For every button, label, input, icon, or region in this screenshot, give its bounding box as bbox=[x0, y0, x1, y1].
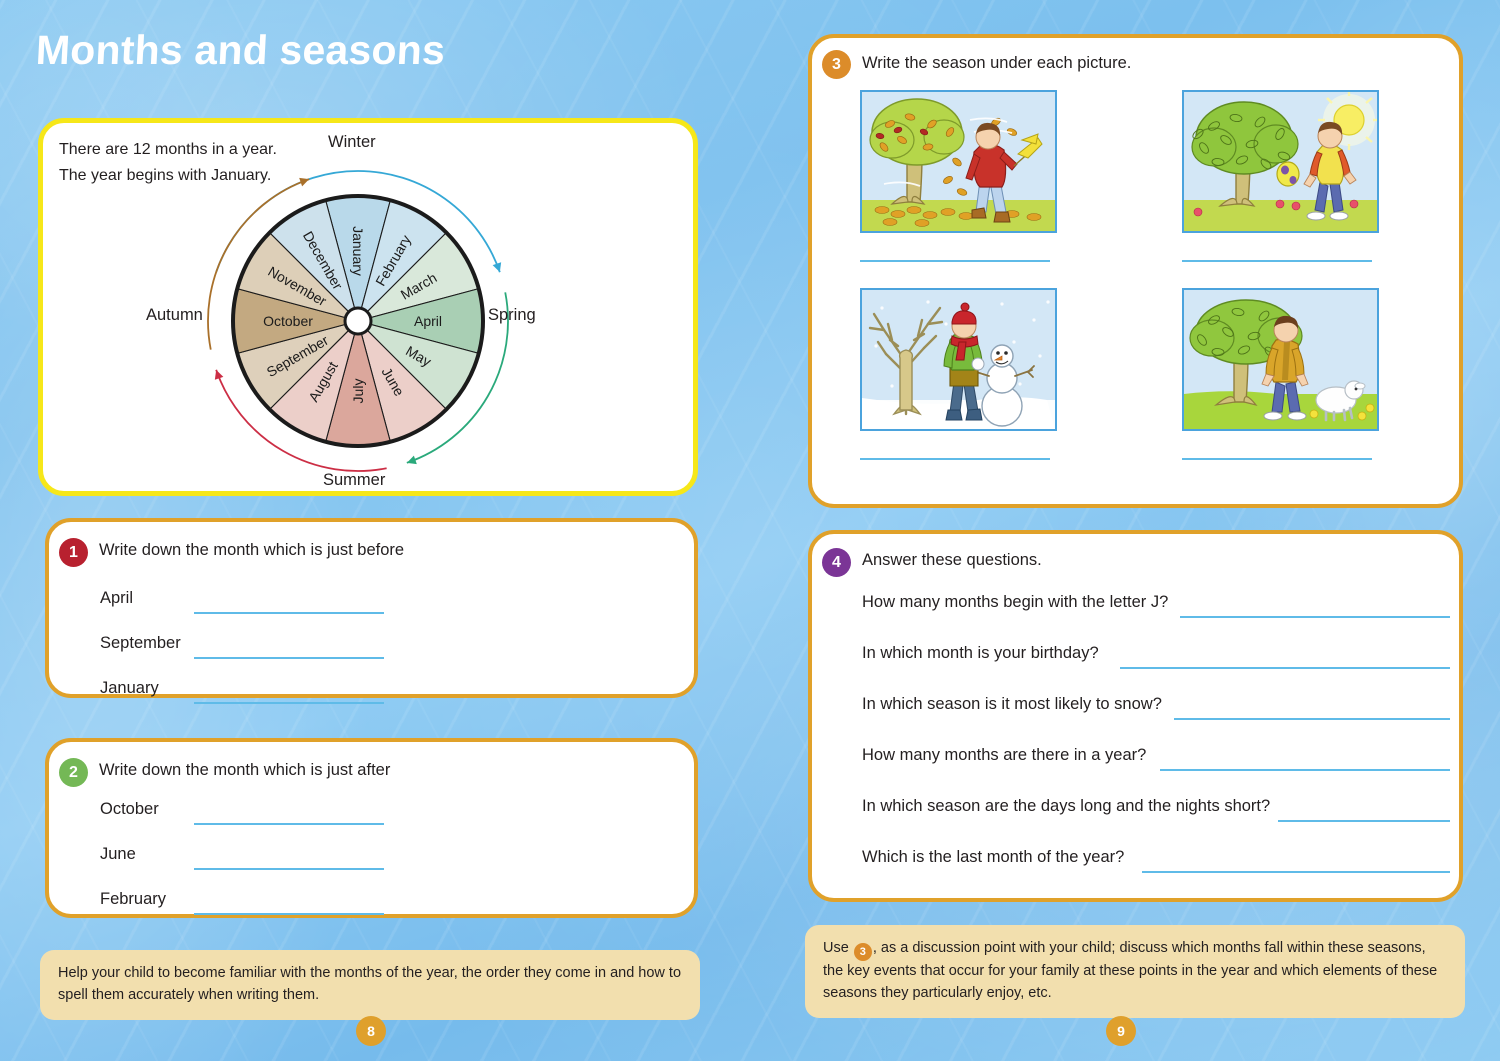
wheel-month-label-july: July bbox=[350, 379, 366, 404]
exercise-4-answer-5[interactable] bbox=[1142, 871, 1450, 873]
exercise-3-badge: 3 bbox=[822, 50, 851, 79]
exercise-2-item-2-label: February bbox=[100, 890, 166, 909]
season-label-autumn: Autumn bbox=[146, 306, 203, 325]
info-card: There are 12 months in a year. The year … bbox=[38, 118, 698, 496]
exercise-4-instruction: Answer these questions. bbox=[862, 551, 1042, 570]
season-label-spring: Spring bbox=[488, 306, 536, 325]
exercise-1-item-0-label: April bbox=[100, 589, 133, 608]
exercise-1-item-2-answer[interactable] bbox=[194, 702, 384, 704]
page-number-left: 8 bbox=[356, 1016, 386, 1046]
exercise-2-instruction: Write down the month which is just after bbox=[99, 761, 390, 780]
exercise-1-instruction: Write down the month which is just befor… bbox=[99, 541, 404, 560]
exercise-2-item-0-label: October bbox=[100, 800, 159, 819]
exercise-4-answer-3[interactable] bbox=[1160, 769, 1450, 771]
right-page: 3 Write the season under each picture. bbox=[750, 0, 1500, 1061]
page-number-right: 9 bbox=[1106, 1016, 1136, 1046]
exercise-1-item-1-label: September bbox=[100, 634, 181, 653]
exercise-1-card: 1 Write down the month which is just bef… bbox=[45, 518, 698, 698]
season-arrow-summer bbox=[215, 370, 224, 380]
season-arrow-winter bbox=[493, 262, 502, 272]
exercise-4-question-5: Which is the last month of the year? bbox=[862, 848, 1124, 867]
tip-box-right: Use 3, as a discussion point with your c… bbox=[805, 925, 1465, 1018]
exercise-1-badge: 1 bbox=[59, 538, 88, 567]
tip-right-inline-badge: 3 bbox=[854, 943, 872, 961]
exercise-4-answer-4[interactable] bbox=[1278, 820, 1450, 822]
exercise-3-answer-3[interactable] bbox=[1182, 458, 1372, 460]
exercise-3-card: 3 Write the season under each picture. bbox=[808, 34, 1463, 508]
picture-spring bbox=[1182, 288, 1379, 431]
exercise-4-answer-1[interactable] bbox=[1120, 667, 1450, 669]
exercise-1-item-2-label: January bbox=[100, 679, 159, 698]
exercise-1-item-1-answer[interactable] bbox=[194, 657, 384, 659]
wheel-month-label-january: January bbox=[350, 226, 366, 276]
picture-winter bbox=[860, 288, 1057, 431]
exercise-3-answer-1[interactable] bbox=[1182, 260, 1372, 262]
exercise-4-question-3: How many months are there in a year? bbox=[862, 746, 1146, 765]
tip-right-prefix: Use bbox=[823, 940, 849, 956]
picture-summer bbox=[1182, 90, 1379, 233]
exercise-2-item-2-answer[interactable] bbox=[194, 913, 384, 915]
exercise-4-badge: 4 bbox=[822, 548, 851, 577]
exercise-1-item-0-answer[interactable] bbox=[194, 612, 384, 614]
exercise-4-question-4: In which season are the days long and th… bbox=[862, 797, 1270, 816]
exercise-4-question-0: How many months begin with the letter J? bbox=[862, 593, 1168, 612]
exercise-4-question-1: In which month is your birthday? bbox=[862, 644, 1099, 663]
wheel-month-label-april: April bbox=[414, 313, 442, 329]
exercise-3-answer-0[interactable] bbox=[860, 260, 1050, 262]
exercise-4-question-2: In which season is it most likely to sno… bbox=[862, 695, 1162, 714]
exercise-3-instruction: Write the season under each picture. bbox=[862, 54, 1131, 73]
tip-right-text: , as a discussion point with your child;… bbox=[823, 940, 1437, 1001]
wheel-month-label-october: October bbox=[263, 313, 313, 329]
months-seasons-wheel: JanuaryFebruaryMarchAprilMayJuneJulyAugu… bbox=[143, 151, 573, 481]
season-arrow-spring bbox=[407, 456, 417, 465]
exercise-4-answer-0[interactable] bbox=[1180, 616, 1450, 618]
exercise-2-badge: 2 bbox=[59, 758, 88, 787]
season-label-summer: Summer bbox=[323, 471, 385, 490]
season-arrow-autumn bbox=[299, 178, 309, 187]
picture-autumn bbox=[860, 90, 1057, 233]
season-label-winter: Winter bbox=[328, 133, 376, 152]
exercise-2-item-1-answer[interactable] bbox=[194, 868, 384, 870]
exercise-2-card: 2 Write down the month which is just aft… bbox=[45, 738, 698, 918]
exercise-3-answer-2[interactable] bbox=[860, 458, 1050, 460]
exercise-4-card: 4 Answer these questions. How many month… bbox=[808, 530, 1463, 902]
page-title: Months and seasons bbox=[35, 27, 447, 74]
exercise-4-answer-2[interactable] bbox=[1174, 718, 1450, 720]
tip-box-left: Help your child to become familiar with … bbox=[40, 950, 700, 1020]
exercise-2-item-1-label: June bbox=[100, 845, 136, 864]
left-page: Months and seasons There are 12 months i… bbox=[0, 0, 750, 1061]
exercise-2-item-0-answer[interactable] bbox=[194, 823, 384, 825]
